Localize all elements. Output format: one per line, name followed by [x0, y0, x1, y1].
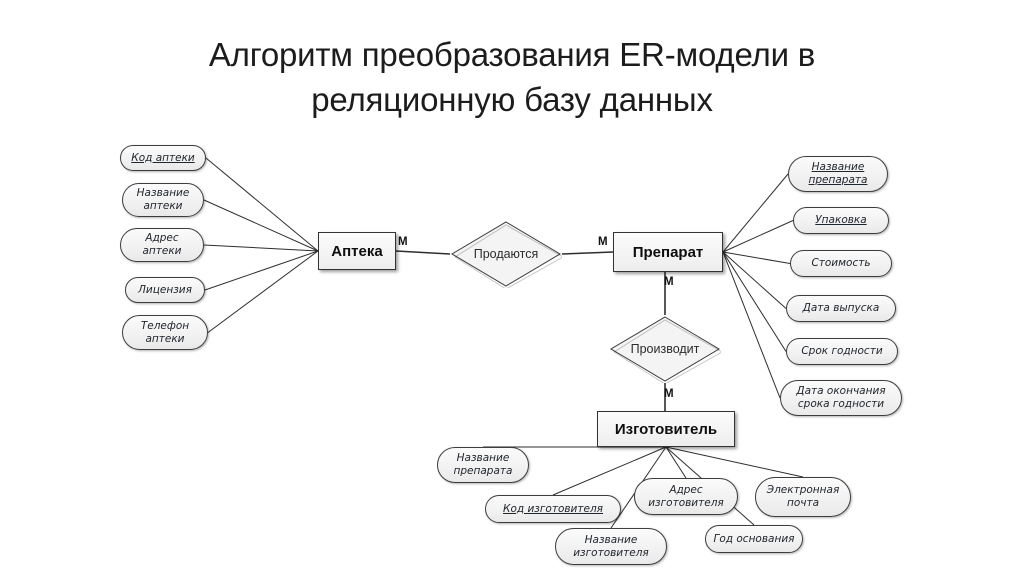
attribute-nazvanie-preparata[interactable]: Названиепрепарата — [788, 156, 888, 192]
attribute-data-okonchaniya[interactable]: Дата окончаниясрока годности — [780, 380, 902, 416]
entity-label: Аптека — [331, 243, 382, 260]
attribute-adres-apteki[interactable]: Адресаптеки — [120, 228, 204, 262]
attribute-nazvanie-preparata-2[interactable]: Названиепрепарата — [437, 447, 529, 483]
attribute-data-vypuska[interactable]: Дата выпуска — [786, 295, 896, 322]
attribute-label: Адрес — [142, 232, 181, 245]
entity-apteka[interactable]: Аптека — [318, 232, 396, 270]
attribute-label: Название — [137, 187, 190, 200]
entity-preparat[interactable]: Препарат — [613, 232, 723, 272]
attribute-label: аптеки — [141, 333, 189, 346]
entity-label: Препарат — [633, 244, 704, 261]
attribute-licenziya[interactable]: Лицензия — [125, 277, 205, 303]
attribute-label: Упаковка — [815, 214, 866, 227]
cardinality-label: M — [598, 236, 608, 248]
attribute-kod-izgotovitelya[interactable]: Код изготовителя — [485, 495, 621, 523]
attribute-srok-godnosti[interactable]: Срок годности — [786, 338, 898, 365]
attribute-label: Адрес — [648, 484, 724, 497]
attribute-label: Телефон — [141, 320, 189, 333]
relationship-proizvodit[interactable]: Производит — [609, 315, 721, 383]
attribute-label: Лицензия — [138, 284, 192, 297]
attribute-label: изготовителя — [573, 547, 649, 560]
attribute-elektronnaya-pochta[interactable]: Электроннаяпочта — [755, 477, 851, 517]
attribute-label: Год основания — [714, 533, 795, 546]
relationship-label: Производит — [609, 342, 721, 356]
attribute-label: Срок годности — [801, 345, 882, 358]
attribute-label: препарата — [809, 174, 868, 187]
attribute-label: Код аптеки — [131, 152, 195, 165]
attribute-telefon-apteki[interactable]: Телефонаптеки — [122, 315, 208, 350]
attribute-label: Название — [573, 534, 649, 547]
attribute-label: изготовителя — [648, 497, 724, 510]
cardinality-label: M — [664, 276, 674, 288]
attribute-kod-apteki[interactable]: Код аптеки — [120, 145, 206, 171]
attribute-label: аптеки — [142, 245, 181, 258]
attribute-nazvanie-izgotovitelya[interactable]: Названиеизготовителя — [555, 528, 667, 565]
entity-izgotovitel[interactable]: Изготовитель — [597, 411, 735, 447]
attribute-label: аптеки — [137, 200, 190, 213]
cardinality-label: M — [664, 388, 674, 400]
attribute-label: срока годности — [796, 398, 885, 411]
cardinality-label: M — [398, 236, 408, 248]
attribute-adres-izgotovitelya[interactable]: Адресизготовителя — [634, 478, 738, 515]
attribute-label: Название — [809, 161, 868, 174]
attribute-upakovka[interactable]: Упаковка — [793, 207, 889, 234]
attribute-stoimost[interactable]: Стоимость — [790, 250, 892, 277]
attribute-label: препарата — [454, 465, 513, 478]
relationship-prodayutsya[interactable]: Продаются — [450, 220, 562, 288]
attribute-label: почта — [767, 497, 840, 510]
attribute-label: Дата выпуска — [803, 302, 880, 315]
attribute-label: Стоимость — [811, 257, 870, 270]
attribute-god-osnovaniya[interactable]: Год основания — [705, 525, 803, 553]
entity-label: Изготовитель — [615, 421, 717, 438]
er-diagram-page: Алгоритм преобразования ER-модели в реля… — [0, 0, 1024, 574]
attribute-label: Название — [454, 452, 513, 465]
attribute-label: Дата окончания — [796, 385, 885, 398]
attribute-label: Электронная — [767, 484, 840, 497]
attribute-label: Код изготовителя — [503, 503, 603, 516]
relationship-label: Продаются — [450, 247, 562, 261]
attribute-nazvanie-apteki[interactable]: Названиеаптеки — [122, 183, 204, 217]
